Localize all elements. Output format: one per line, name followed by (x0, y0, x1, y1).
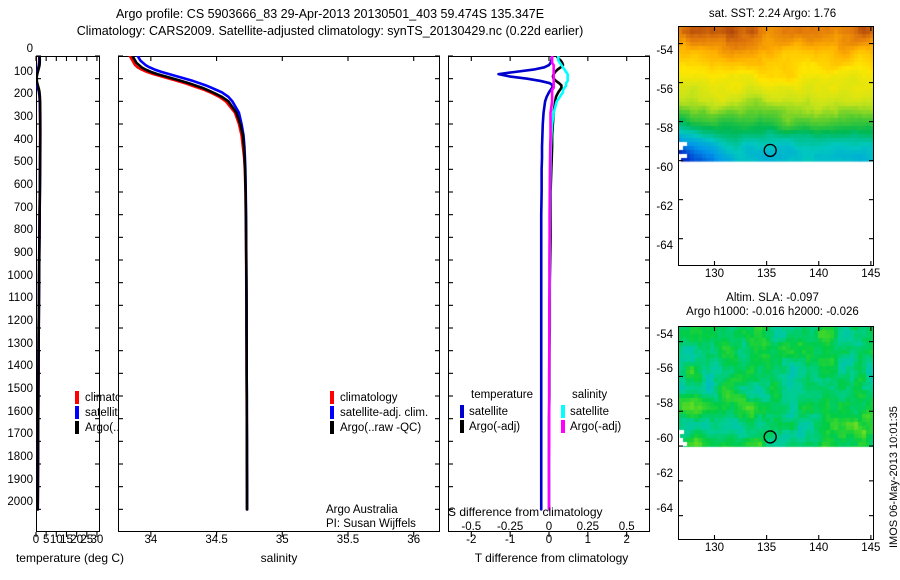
difference-temperature-axis-label: T difference from climatology (444, 551, 659, 565)
legend-label-temperature-satellite: satellite (469, 406, 508, 418)
legend-item-salinity-satellite: satellite (561, 404, 621, 419)
tick-label: 500 (0, 156, 33, 168)
difference-salinity-axis-label: S difference from climatology (448, 505, 658, 519)
legend-swatch-climatology (75, 391, 79, 404)
legend-item-climatology: climatology (330, 390, 428, 405)
legend-item-temperature-argo: Argo(-adj) (460, 419, 533, 434)
argo-australia-note: Argo Australia (326, 504, 398, 516)
legend-swatch-argo-raw (330, 421, 334, 434)
difference-legend: temperature satellite Argo(-adj) salinit… (460, 389, 621, 434)
difference-legend-salinity: salinity satellite Argo(-adj) (561, 389, 621, 434)
tick-label: 0 (529, 534, 569, 546)
tick-label: 1100 (0, 292, 33, 304)
tick-label: 2 (607, 534, 647, 546)
tick-label: 0 (0, 43, 33, 55)
salinity-axis-label: salinity (118, 551, 440, 565)
legend-swatch-satellite-adj (75, 406, 79, 419)
legend-label-salinity-satellite: satellite (570, 406, 609, 418)
tick-label: 36 (392, 534, 436, 546)
legend-item-satellite-adj: satellite-adj. clim. (330, 405, 428, 420)
tick-label: 1000 (0, 270, 33, 282)
argo-pi-note: PI: Susan Wijffels (326, 518, 416, 530)
legend-swatch-climatology (330, 391, 334, 404)
sst-map-ticks (660, 20, 900, 280)
tick-label: 1600 (0, 406, 33, 418)
legend-swatch-salinity-argo (561, 420, 565, 433)
tick-label: 400 (0, 134, 33, 146)
tick-label: -0.5 (449, 521, 493, 533)
legend-swatch-temperature-argo (460, 420, 464, 433)
tick-label: 34 (129, 534, 173, 546)
tick-label: 1200 (0, 315, 33, 327)
page-title-line2: Climatology: CARS2009. Satellite-adjuste… (0, 24, 660, 38)
sla-map-title-line1: Altim. SLA: -0.097 (665, 292, 880, 304)
legend-swatch-salinity-satellite (561, 405, 565, 418)
tick-label: 0.25 (566, 521, 610, 533)
tick-label: 1300 (0, 338, 33, 350)
difference-panel (448, 56, 650, 532)
sla-map-title-line2: Argo h1000: -0.016 h2000: -0.026 (655, 306, 890, 318)
legend-item-salinity-argo: Argo(-adj) (561, 419, 621, 434)
tick-label: 1400 (0, 360, 33, 372)
legend-label-argo-raw: Argo(..raw -QC) (340, 422, 421, 434)
tick-label: 30 (77, 534, 117, 546)
tick-label: -0.25 (488, 521, 532, 533)
salinity-legend: climatology satellite-adj. clim. Argo(..… (330, 390, 428, 435)
tick-label: 700 (0, 202, 33, 214)
tick-label: 600 (0, 179, 33, 191)
salinity-panel (118, 56, 440, 532)
tick-label: 100 (0, 66, 33, 78)
tick-label: 800 (0, 224, 33, 236)
sla-map-ticks (660, 320, 900, 555)
tick-label: 1500 (0, 383, 33, 395)
legend-swatch-temperature-satellite (460, 405, 464, 418)
salinity-plot-area (118, 56, 440, 532)
legend-label-temperature-argo: Argo(-adj) (469, 421, 520, 433)
legend-title-salinity: salinity (561, 389, 621, 404)
difference-plot-area (448, 56, 650, 532)
legend-title-temperature: temperature (460, 389, 533, 404)
sst-map-title: sat. SST: 2.24 Argo: 1.76 (665, 8, 880, 20)
tick-label: -2 (451, 534, 491, 546)
difference-legend-temperature: temperature satellite Argo(-adj) (460, 389, 533, 434)
legend-swatch-satellite-adj (330, 406, 334, 419)
imos-timestamp: IMOS 06-May-2013 10:01:35 (888, 406, 900, 548)
page-title-line1: Argo profile: CS 5903666_83 29-Apr-2013 … (0, 7, 660, 21)
tick-label: 1 (568, 534, 608, 546)
tick-label: 2000 (0, 496, 33, 508)
tick-label: 34.5 (195, 534, 239, 546)
tick-label: 1900 (0, 474, 33, 486)
legend-label-satellite-adj: satellite-adj. clim. (340, 407, 428, 419)
tick-label: 0.5 (605, 521, 649, 533)
tick-label: 1700 (0, 428, 33, 440)
legend-label-salinity-argo: Argo(-adj) (570, 421, 621, 433)
tick-label: -1 (490, 534, 530, 546)
tick-label: 0 (527, 521, 571, 533)
legend-swatch-argo-raw (75, 421, 79, 434)
tick-label: 1800 (0, 451, 33, 463)
tick-label: 200 (0, 88, 33, 100)
legend-item-temperature-satellite: satellite (460, 404, 533, 419)
legend-item-argo-raw: Argo(..raw -QC) (330, 420, 428, 435)
tick-label: 35.5 (326, 534, 370, 546)
tick-label: 900 (0, 247, 33, 259)
tick-label: 300 (0, 111, 33, 123)
tick-label: 35 (260, 534, 304, 546)
legend-label-climatology: climatology (340, 392, 398, 404)
